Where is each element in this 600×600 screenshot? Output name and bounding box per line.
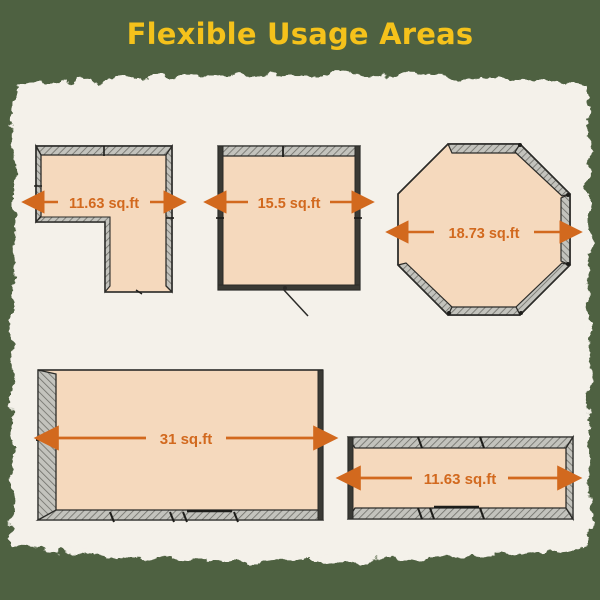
octagon-plan: 18.73 sq.ft [398, 143, 570, 315]
area-label: 31 sq.ft [160, 431, 213, 448]
floor-plans-canvas: 11.63 sq.ft [0, 0, 600, 600]
wide-rect-plan: 31 sq.ft [36, 370, 326, 522]
page-title: Flexible Usage Areas [127, 17, 474, 51]
l-shape-plan: 11.63 sq.ft [34, 146, 174, 294]
area-label: 15.5 sq.ft [258, 196, 321, 212]
square-plan: 15.5 sq.ft [216, 146, 362, 316]
page-title-bar: Flexible Usage Areas [0, 0, 600, 68]
area-label: 18.73 sq.ft [449, 226, 520, 242]
area-label: 11.63 sq.ft [69, 196, 139, 212]
narrow-rect-plan: 11.63 sq.ft [348, 437, 573, 519]
area-label: 11.63 sq.ft [424, 471, 497, 488]
poster-root: Flexible Usage Areas [0, 0, 600, 600]
